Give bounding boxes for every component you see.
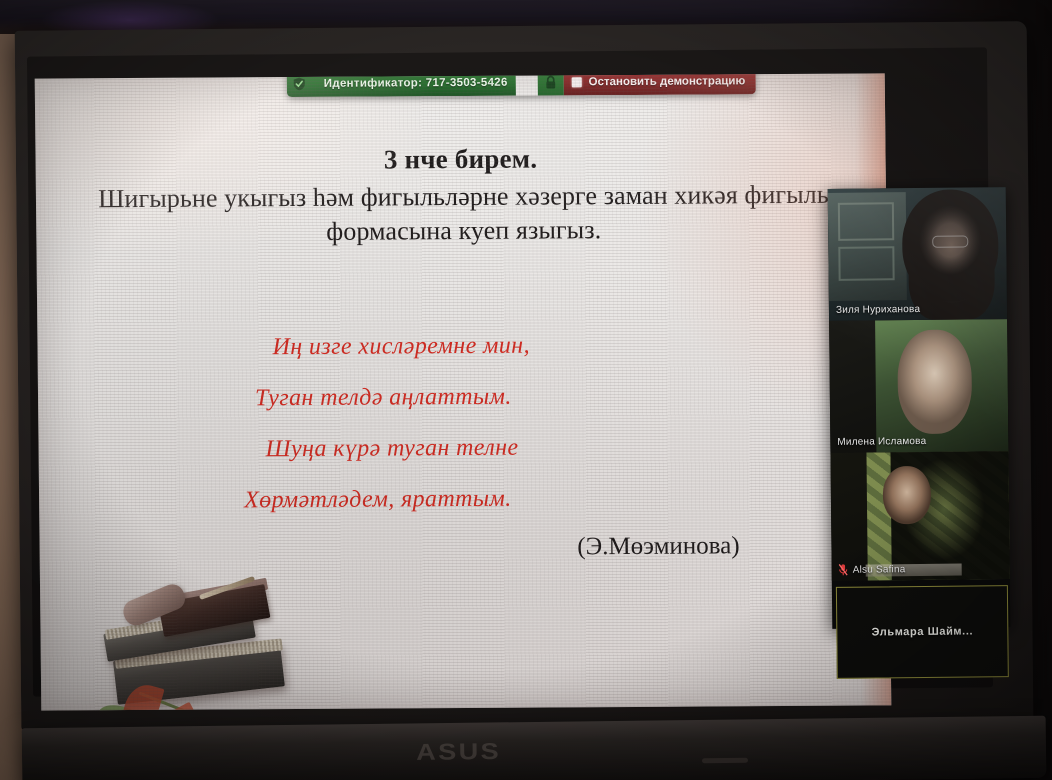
lock-icon[interactable] <box>537 73 563 95</box>
poem-line: Туган телдә аңлаттым. <box>255 383 793 410</box>
slide-title: 3 нче бирем. <box>35 141 885 177</box>
participant-name: Зиля Нуриханова <box>836 304 920 316</box>
participant-filmstrip[interactable]: Зиля Нуриханова Милена Исламова <box>828 187 1011 629</box>
participant-name-label: Alsu Safina <box>853 564 906 576</box>
poem-line: Иң изге хисләремне мин, <box>272 332 792 359</box>
poem-line: Хөрмәтләдем, яраттым. <box>244 485 794 512</box>
poem-block: Иң изге хисләремне мин, Туган телдә аңла… <box>232 332 794 563</box>
laptop-screen: 3 нче бирем. Шигырьне укыгыз һәм фигыльл… <box>35 73 892 710</box>
photo-of-laptop-screen: 3 нче бирем. Шигырьне укыгыз һәм фигыльл… <box>0 0 1052 780</box>
zoom-meeting-toolbar[interactable]: Идентификатор: 717-3503-5426 Остановить … <box>287 73 756 97</box>
laptop-base-latch <box>702 758 748 764</box>
asus-brand-logo: ASUS <box>416 737 558 765</box>
participant-name-label: Эльмара Шайм... <box>872 625 974 638</box>
laptop: 3 нче бирем. Шигырьне укыгыз һәм фигыльл… <box>12 22 1042 780</box>
presentation-slide: 3 нче бирем. Шигырьне укыгыз һәм фигыльл… <box>35 73 892 710</box>
participant-tile[interactable]: Alsu Safina <box>830 451 1009 581</box>
poem-line: Шуңа күрә туган телне <box>265 434 793 461</box>
participant-name-label: Милена Исламова <box>837 436 926 448</box>
slide-instruction: Шигырьне укыгыз һәм фигыльләрне хәзерге … <box>91 178 837 250</box>
participant-name-label: Зиля Нуриханова <box>836 304 920 316</box>
stop-share-label: Остановить демонстрацию <box>589 75 746 88</box>
participant-name: Alsu Safina <box>839 563 906 576</box>
stop-share-button[interactable]: Остановить демонстрацию <box>563 73 755 95</box>
books-illustration <box>62 577 314 711</box>
meeting-id-label: Идентификатор: 717-3503-5426 <box>324 77 508 90</box>
participant-tile-active-speaker[interactable]: Эльмара Шайм... <box>836 585 1009 679</box>
participant-tile[interactable]: Милена Исламова <box>829 319 1008 453</box>
poem-author: (Э.Мөэминова) <box>234 532 794 563</box>
meeting-id-group[interactable]: Идентификатор: 717-3503-5426 <box>287 73 516 97</box>
participant-name: Милена Исламова <box>837 436 926 448</box>
mic-muted-icon <box>839 564 848 576</box>
stop-square-icon <box>572 77 582 87</box>
participant-tile[interactable]: Зиля Нуриханова <box>828 187 1007 321</box>
shield-check-icon <box>293 77 306 91</box>
